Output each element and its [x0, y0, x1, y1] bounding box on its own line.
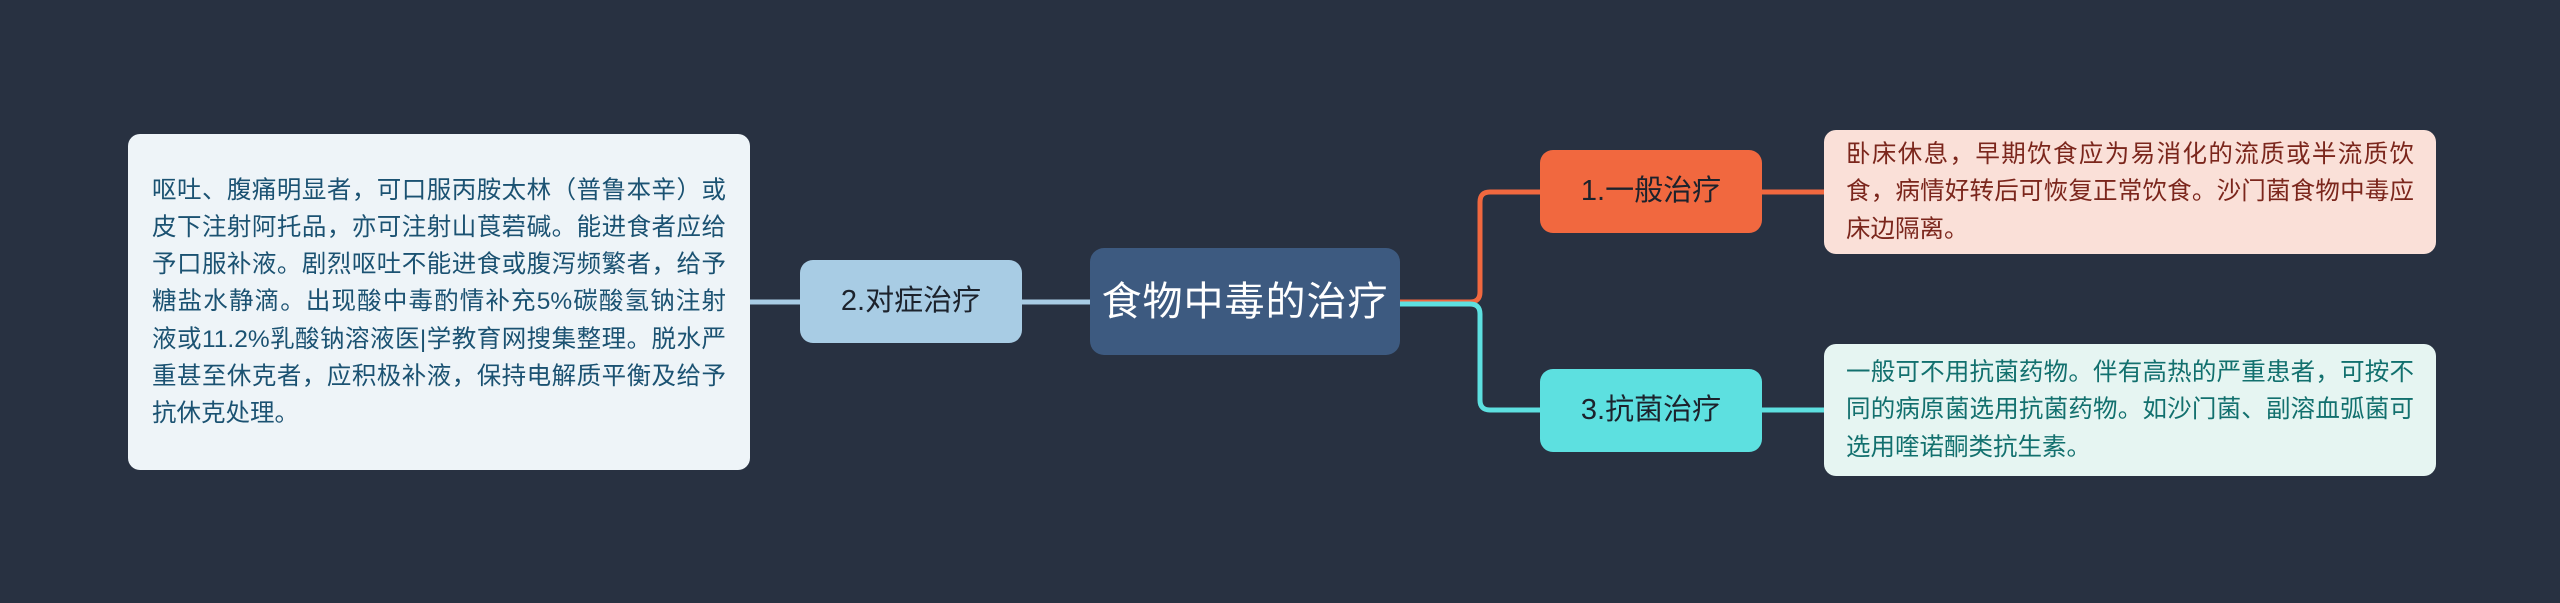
- branch-node-label: 1.一般治疗: [1581, 177, 1721, 206]
- root-node-label: 食物中毒的治疗: [1102, 282, 1389, 322]
- detail-card-text: 呕吐、腹痛明显者，可口服丙胺太林（普鲁本辛）或皮下注射阿托品，亦可注射山莨菪碱。…: [152, 172, 726, 433]
- detail-card-general-treatment[interactable]: 卧床休息，早期饮食应为易消化的流质或半流质饮食，病情好转后可恢复正常饮食。沙门菌…: [1824, 130, 2436, 254]
- detail-card-text: 卧床休息，早期饮食应为易消化的流质或半流质饮食，病情好转后可恢复正常饮食。沙门菌…: [1846, 136, 2414, 248]
- branch-node-symptomatic-treatment[interactable]: 2.对症治疗: [800, 260, 1022, 343]
- branch-node-general-treatment[interactable]: 1.一般治疗: [1540, 150, 1762, 233]
- detail-card-text: 一般可不用抗菌药物。伴有高热的严重患者，可按不同的病原菌选用抗菌药物。如沙门菌、…: [1846, 354, 2414, 466]
- branch-node-label: 3.抗菌治疗: [1581, 396, 1721, 425]
- branch-node-antibacterial-treatment[interactable]: 3.抗菌治疗: [1540, 369, 1762, 452]
- mindmap-canvas: 呕吐、腹痛明显者，可口服丙胺太林（普鲁本辛）或皮下注射阿托品，亦可注射山莨菪碱。…: [0, 0, 2560, 603]
- connector-root-to-branch3: [1400, 304, 1540, 410]
- branch-node-label: 2.对症治疗: [841, 287, 981, 316]
- detail-card-antibacterial-treatment[interactable]: 一般可不用抗菌药物。伴有高热的严重患者，可按不同的病原菌选用抗菌药物。如沙门菌、…: [1824, 344, 2436, 476]
- connector-root-to-branch1: [1400, 192, 1540, 302]
- root-node-food-poisoning-treatment[interactable]: 食物中毒的治疗: [1090, 248, 1400, 355]
- detail-card-symptomatic-treatment[interactable]: 呕吐、腹痛明显者，可口服丙胺太林（普鲁本辛）或皮下注射阿托品，亦可注射山莨菪碱。…: [128, 134, 750, 470]
